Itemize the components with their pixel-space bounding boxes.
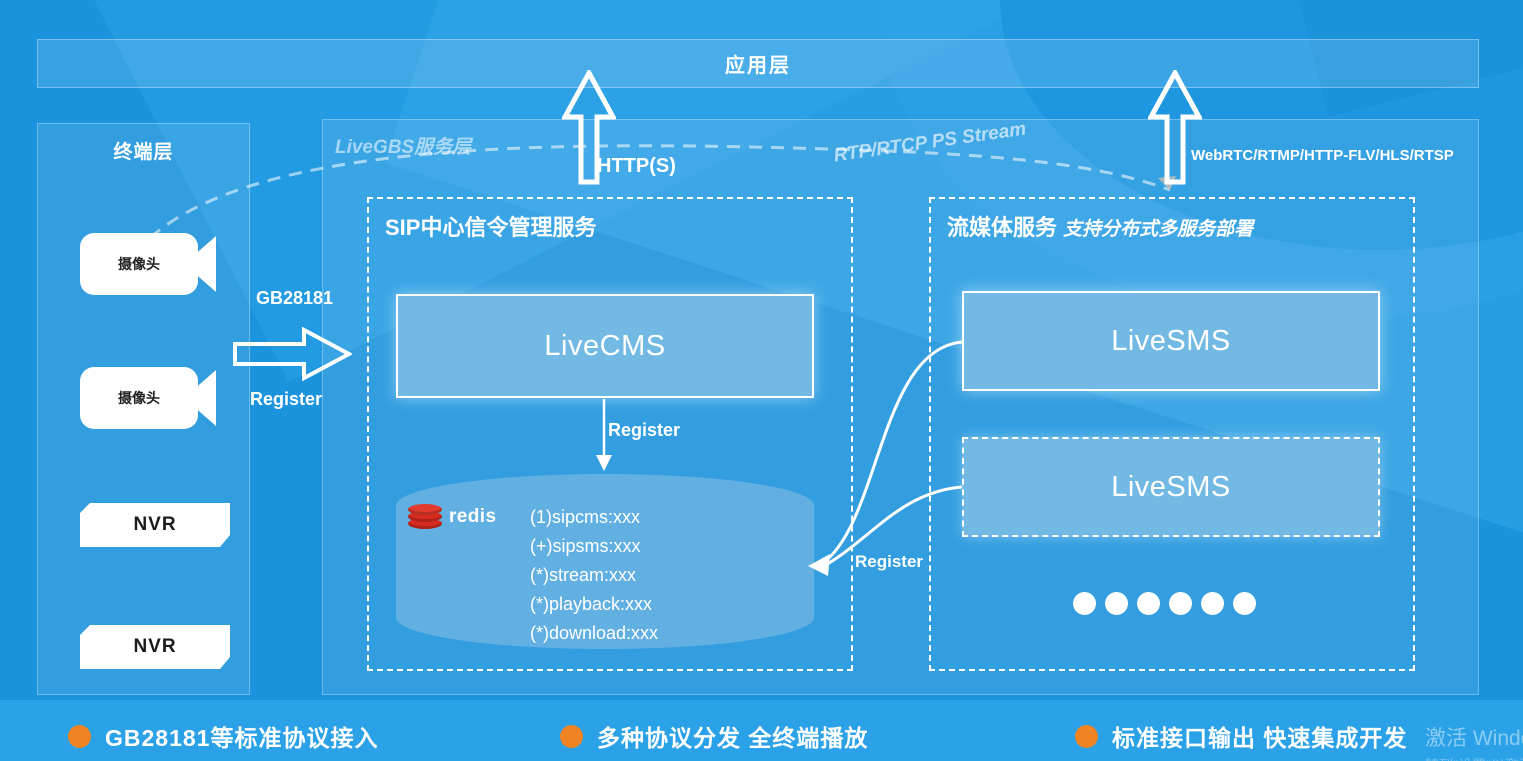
bullet-icon (560, 725, 583, 748)
legend-item-3-label: 标准接口输出 快速集成开发 (1112, 719, 1407, 753)
legend-item-1-label: GB28181等标准协议接入 (105, 719, 378, 753)
cms-register-label: Register (608, 420, 680, 441)
sms-register-label: Register (855, 552, 923, 572)
legend-bar: GB28181等标准协议接入 多种协议分发 全终端播放 标准接口输出 快速集成开… (0, 700, 1523, 761)
webrtc-uplink-arrow (1148, 70, 1202, 185)
cms-register-arrowhead (596, 455, 612, 471)
gb28181-arrow (232, 326, 352, 382)
sms1-register-curve (824, 342, 962, 562)
architecture-diagram: 应用层 终端层 摄像头 摄像头 NVR NVR LiveGBS服务层 SIP中心… (0, 0, 1523, 761)
bullet-icon (68, 725, 91, 748)
gb28181-register-label: Register (250, 389, 322, 410)
gb28181-arrow-label: GB28181 (256, 288, 333, 309)
legend-item-2: 多种协议分发 全终端播放 (560, 719, 868, 753)
legend-item-1: GB28181等标准协议接入 (68, 719, 378, 753)
legend-item-3: 标准接口输出 快速集成开发 (1075, 719, 1407, 753)
webrtc-arrow-label: WebRTC/RTMP/HTTP-FLV/HLS/RTSP (1191, 147, 1454, 164)
bullet-icon (1075, 725, 1098, 748)
http-arrow-label: HTTP(S) (597, 155, 676, 178)
sms-register-arrowhead (808, 554, 830, 576)
legend-item-2-label: 多种协议分发 全终端播放 (597, 719, 868, 753)
flow-connectors (0, 0, 1523, 761)
